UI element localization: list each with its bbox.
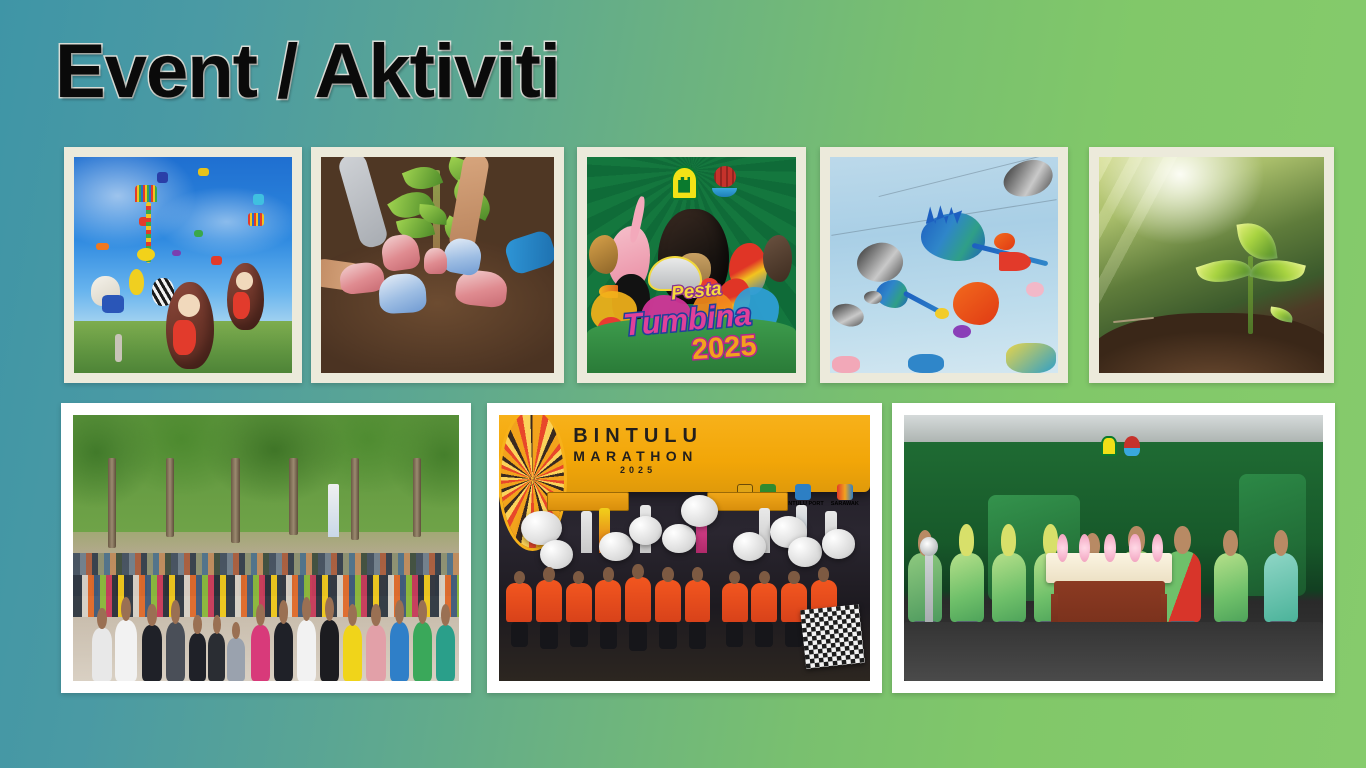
kite-red-flag	[999, 252, 1031, 271]
photo-bintulu-marathon: BINTULU MARATHON 2025 BDA MPB BINTULU PO…	[499, 415, 870, 681]
balloon	[733, 532, 766, 561]
runner	[506, 583, 532, 623]
globe-emblem-logo	[1124, 436, 1140, 456]
checkered-flag	[800, 604, 865, 668]
kite-streamer	[135, 185, 157, 202]
tree-canopy	[73, 415, 459, 532]
tree-trunk	[108, 458, 116, 548]
kite-orange-small	[994, 233, 1015, 250]
photo-park-group	[73, 415, 459, 681]
tree-trunk	[289, 458, 297, 535]
runner	[655, 580, 681, 623]
balloon	[599, 532, 632, 561]
photo-frame-seedling-soil[interactable]	[1089, 147, 1334, 383]
person-silhouette	[115, 334, 122, 362]
kite-bunny-grey	[854, 239, 907, 287]
tree-trunk	[231, 458, 239, 543]
lizard-graphic	[589, 235, 618, 274]
runner	[722, 583, 748, 623]
glove-red-center	[424, 248, 447, 274]
hanging-sign-left	[547, 492, 629, 511]
crowd-person	[413, 622, 432, 681]
photo-seedling-soil	[1099, 157, 1324, 373]
kite-small	[198, 168, 209, 177]
cake-rose	[1057, 534, 1068, 562]
photo-animal-kites-sky	[830, 157, 1058, 373]
kite-bottom-yellow	[1006, 343, 1056, 373]
kite-small	[253, 194, 264, 205]
crowd-person	[92, 628, 111, 681]
crowd-person	[251, 625, 270, 681]
bda-shield-logo	[671, 166, 698, 201]
photo-kite-festival-field	[74, 157, 292, 373]
kite-orange-dino	[953, 282, 999, 325]
runner	[595, 580, 621, 623]
official-hijab	[950, 553, 984, 622]
globe-emblem-logo	[712, 166, 737, 198]
balloon	[662, 524, 695, 553]
crowd-person	[320, 620, 339, 681]
balloon	[681, 495, 718, 527]
kite-bottom-blue	[908, 354, 944, 373]
tree-trunk	[413, 458, 421, 538]
runner	[751, 583, 777, 623]
marathon-title-line2: MARATHON	[573, 449, 703, 463]
photo-cake-cutting	[904, 415, 1323, 681]
stage-floor	[904, 622, 1323, 681]
cake-rose	[1129, 534, 1140, 562]
sarawak-logo: SARAWAK	[831, 484, 859, 507]
kite-bear-white-body	[102, 295, 124, 312]
official	[1214, 553, 1248, 622]
photo-frame-cake-cutting[interactable]	[892, 403, 1335, 693]
marathon-title-year: 2025	[573, 466, 703, 475]
photo-frame-tree-planting[interactable]	[311, 147, 564, 383]
photo-pesta-tumbina-poster: Pesta Tumbina 2025	[587, 157, 796, 373]
kite-pink-small	[1026, 282, 1044, 297]
crowd-person	[436, 625, 455, 681]
runner	[685, 580, 711, 623]
photo-frame-pesta-tumbina-poster[interactable]: Pesta Tumbina 2025	[577, 147, 806, 383]
seedling-leaf-top	[1236, 219, 1277, 263]
crowd-person	[115, 620, 136, 681]
crowd-person	[343, 625, 362, 681]
kite-small	[172, 250, 181, 256]
kite-dark-mid	[864, 291, 882, 304]
photo-frame-kite-festival-field[interactable]	[64, 147, 302, 383]
balloon	[629, 516, 662, 545]
backdrop-logos	[1101, 436, 1140, 456]
arm-sleeve-grey	[336, 157, 389, 250]
kite-yellow-small	[935, 308, 949, 319]
balloon	[822, 529, 855, 558]
bintulu-port-logo: BINTULU PORT	[783, 484, 824, 507]
deer-graphic	[763, 235, 792, 283]
balloon	[540, 540, 573, 569]
kite-small	[194, 230, 203, 236]
event-banner-flag	[328, 484, 340, 537]
event-flag	[581, 511, 592, 554]
crowd-child	[189, 633, 206, 681]
marathon-title-line1: BINTULU	[573, 426, 703, 446]
kite-smiley	[137, 248, 154, 261]
crowd-person	[142, 625, 161, 681]
kite-dark-left	[830, 301, 866, 329]
bda-shield-logo	[1101, 436, 1117, 456]
runner	[536, 580, 562, 623]
tree-trunk	[166, 458, 174, 538]
crowd-person	[274, 622, 293, 681]
page-title: Event / Aktiviti	[55, 34, 560, 110]
kite-small	[157, 172, 168, 183]
kite-small	[211, 256, 222, 265]
tree-trunk	[351, 458, 359, 540]
crowd-child	[208, 633, 225, 681]
hanging-sign-right	[707, 492, 789, 511]
glove-blue-bottom	[378, 272, 427, 313]
crowd-person	[166, 622, 185, 681]
photo-tree-planting	[321, 157, 554, 373]
seedling-leaf-left	[1196, 251, 1253, 290]
kite-yellow-figure	[129, 269, 144, 295]
kite-purple-small	[953, 325, 971, 338]
kite-squirrel-small	[227, 263, 264, 330]
balloon	[788, 537, 821, 566]
kite-squirrel-large	[166, 282, 214, 368]
official-hijab	[992, 553, 1026, 622]
crowd-person	[390, 622, 409, 681]
marathon-arch-title: BINTULU MARATHON 2025	[573, 426, 703, 475]
cake-rose	[1104, 534, 1115, 562]
runner	[566, 583, 592, 623]
crowd-person	[297, 620, 316, 681]
kite-streamer	[248, 213, 263, 226]
runner	[625, 577, 651, 622]
crowd-person	[366, 625, 385, 681]
crowd-child	[227, 638, 244, 681]
photo-frame-bintulu-marathon[interactable]: BINTULU MARATHON 2025 BDA MPB BINTULU PO…	[487, 403, 882, 693]
kite-small	[96, 243, 109, 249]
poster-word-year: 2025	[691, 332, 757, 365]
photo-frame-animal-kites-sky[interactable]	[820, 147, 1068, 383]
photo-frame-park-group-photo[interactable]	[61, 403, 471, 693]
official	[1264, 553, 1298, 622]
kite-bottom-pink	[832, 356, 859, 373]
